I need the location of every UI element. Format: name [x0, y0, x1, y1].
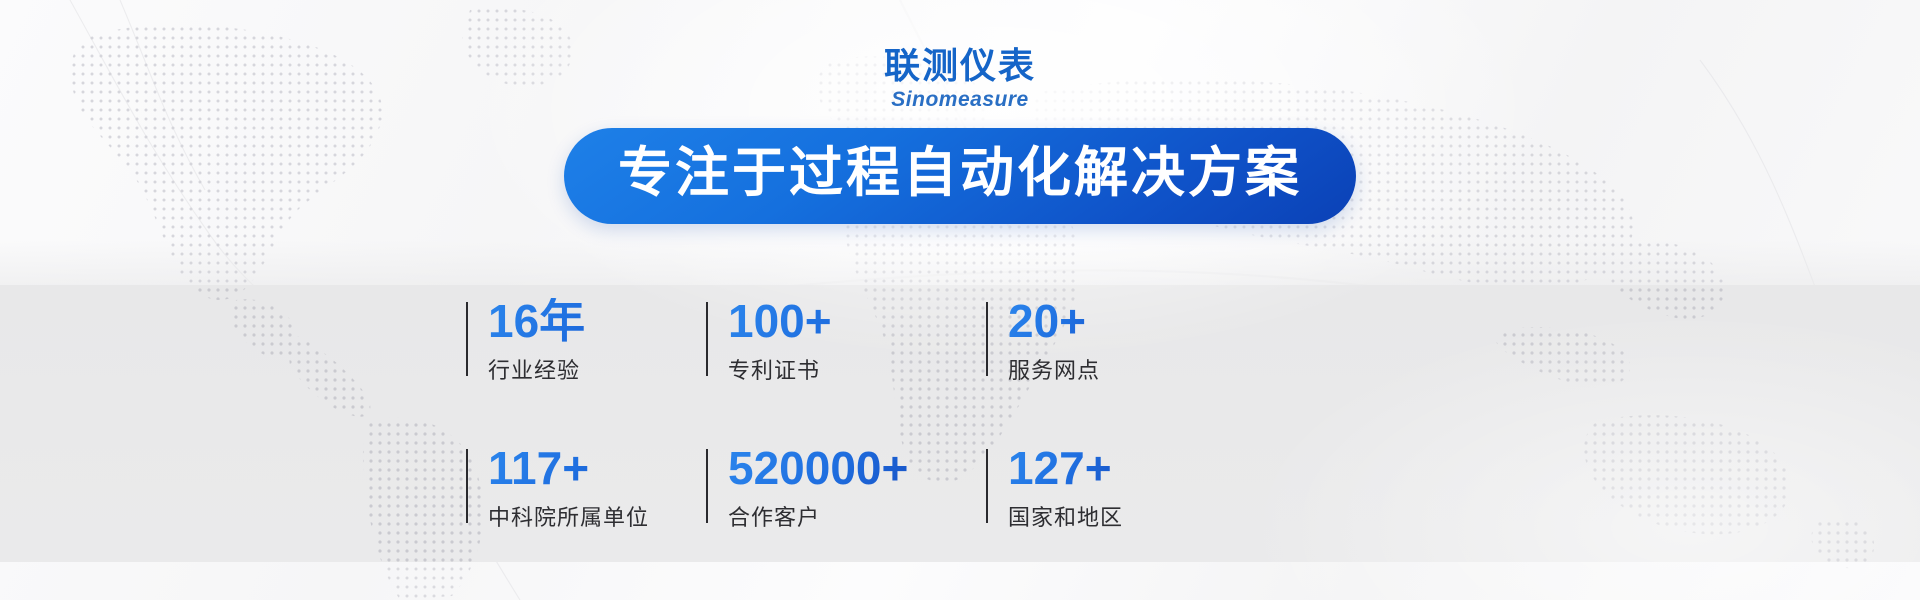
stat-item-service-points: 20+ 服务网点 — [986, 298, 1166, 385]
stat-item-years: 16年 行业经验 — [466, 298, 706, 385]
brand-name-en: Sinomeasure — [0, 89, 1920, 110]
stat-divider-icon — [986, 302, 988, 376]
stat-label: 国家和地区 — [1008, 500, 1166, 532]
stat-value: 520000+ — [728, 445, 986, 492]
brand-logo: 联测仪表 Sinomeasure — [0, 48, 1920, 110]
stat-label: 中科院所属单位 — [488, 500, 706, 532]
stat-label: 合作客户 — [728, 500, 986, 532]
stats-block: 16年 行业经验 100+ 专利证书 20+ 服务网点 117+ 中科院所属单位 — [466, 298, 1166, 532]
stat-divider-icon — [706, 449, 708, 523]
stat-value: 117+ — [488, 445, 706, 492]
stat-divider-icon — [706, 302, 708, 376]
stat-label: 行业经验 — [488, 353, 706, 385]
promo-banner: 联测仪表 Sinomeasure 专注于过程自动化解决方案 16年 行业经验 1… — [0, 0, 1920, 600]
stat-value: 16年 — [488, 298, 706, 345]
stat-divider-icon — [466, 302, 468, 376]
stat-value: 20+ — [1008, 298, 1166, 345]
stat-label: 专利证书 — [728, 353, 986, 385]
headline-pill: 专注于过程自动化解决方案 — [564, 128, 1356, 224]
stat-label: 服务网点 — [1008, 353, 1166, 385]
stats-row: 16年 行业经验 100+ 专利证书 20+ 服务网点 — [466, 298, 1166, 385]
stats-row: 117+ 中科院所属单位 520000+ 合作客户 127+ 国家和地区 — [466, 445, 1166, 532]
stat-item-countries: 127+ 国家和地区 — [986, 445, 1166, 532]
stat-value: 127+ — [1008, 445, 1166, 492]
headline-text: 专注于过程自动化解决方案 — [618, 142, 1302, 206]
stat-value: 100+ — [728, 298, 986, 345]
stat-item-patents: 100+ 专利证书 — [706, 298, 986, 385]
headline-container: 专注于过程自动化解决方案 — [0, 128, 1920, 224]
stat-divider-icon — [466, 449, 468, 523]
stat-item-cas-units: 117+ 中科院所属单位 — [466, 445, 706, 532]
stat-item-customers: 520000+ 合作客户 — [706, 445, 986, 532]
brand-name-cn: 联测仪表 — [0, 48, 1920, 84]
stat-divider-icon — [986, 449, 988, 523]
